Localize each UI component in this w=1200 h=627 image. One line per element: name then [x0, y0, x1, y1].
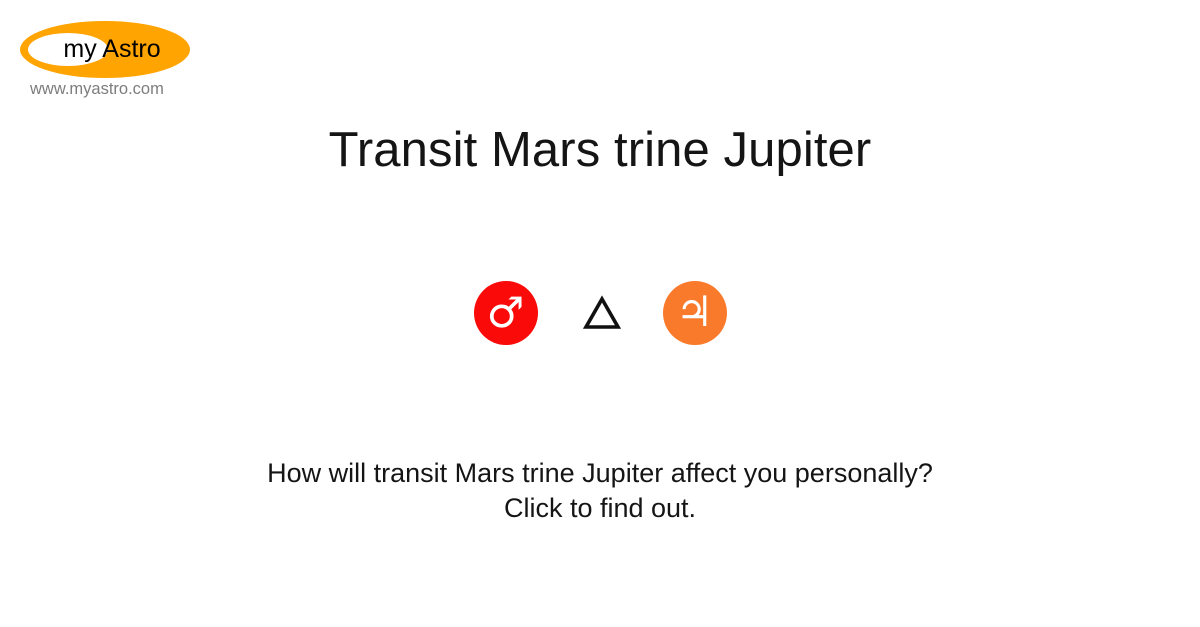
call-to-action-text[interactable]: How will transit Mars trine Jupiter affe…: [0, 456, 1200, 526]
jupiter-icon: ♃: [676, 291, 714, 333]
jupiter-symbol-badge: ♃: [663, 281, 727, 345]
logo-wordmark: my Astro: [20, 21, 190, 78]
logo-badge[interactable]: my Astro: [20, 21, 190, 78]
mars-symbol-badge: ♂: [474, 281, 538, 345]
aspect-symbol-row: ♂ ♃: [0, 281, 1200, 345]
site-url-label: www.myastro.com: [30, 81, 164, 98]
page-title: Transit Mars trine Jupiter: [0, 121, 1200, 179]
cta-line-2: Click to find out.: [0, 491, 1200, 526]
cta-line-1: How will transit Mars trine Jupiter affe…: [0, 456, 1200, 491]
trine-triangle-icon: [582, 281, 622, 345]
brand-block[interactable]: my Astro www.myastro.com: [0, 0, 260, 110]
mars-icon: ♂: [487, 292, 525, 334]
